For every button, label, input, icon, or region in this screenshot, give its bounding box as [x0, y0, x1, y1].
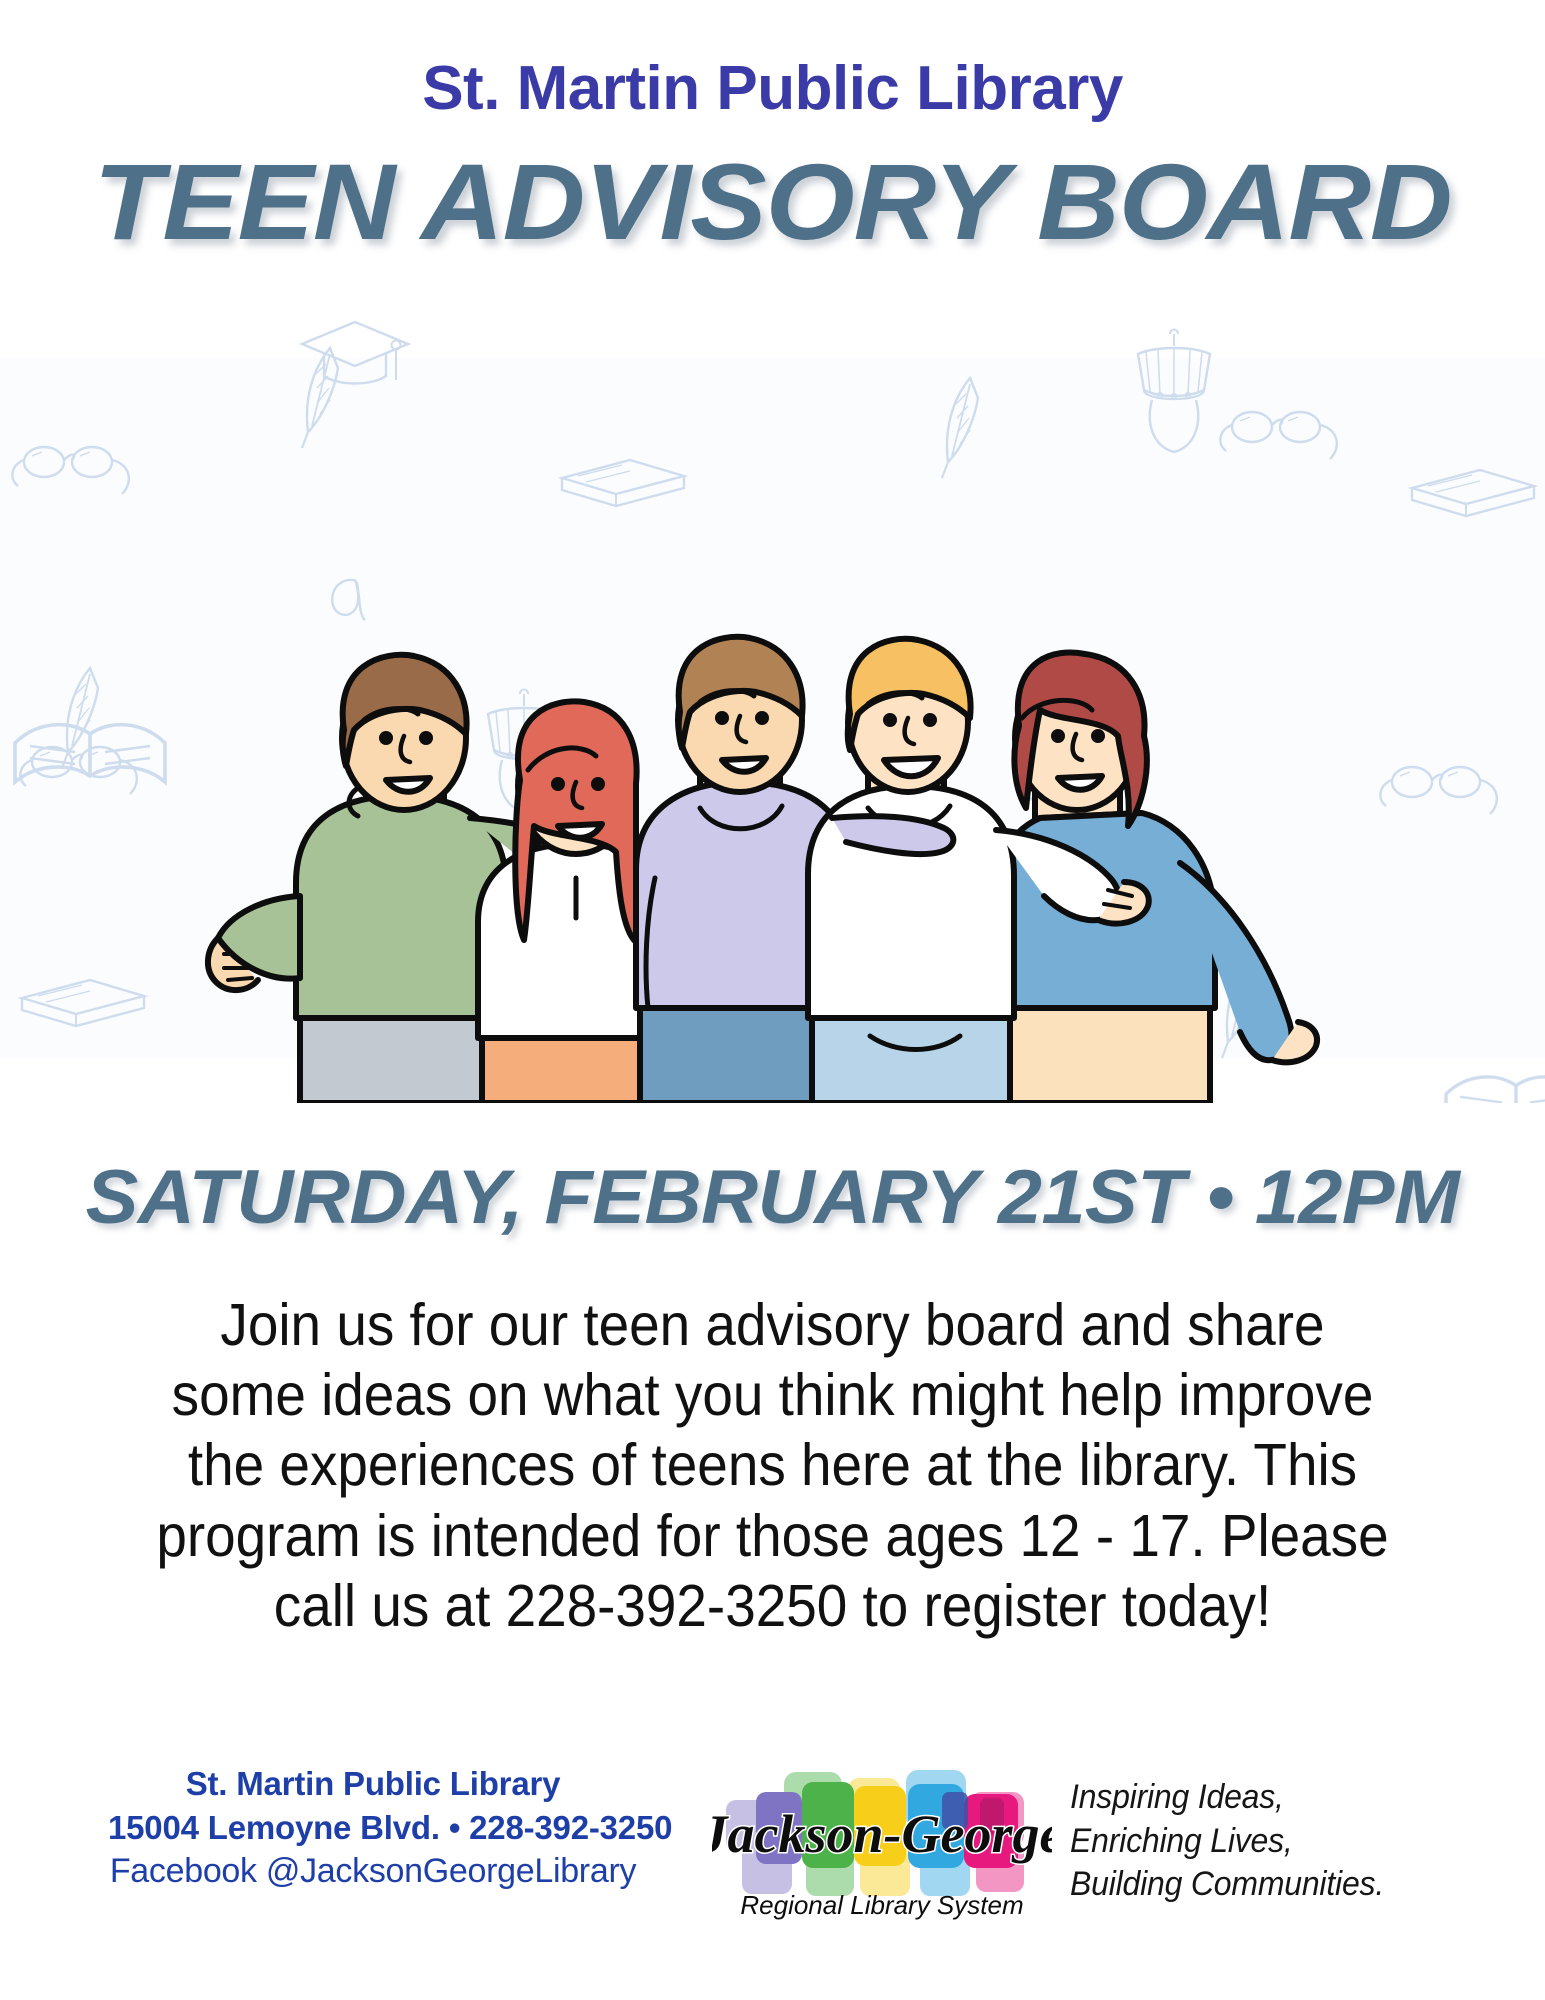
tagline-line-3: Building Communities.	[1070, 1863, 1384, 1907]
illustration-svg	[0, 318, 1545, 1103]
event-date: SATURDAY, FEBRUARY 21ST • 12PM	[0, 1160, 1545, 1236]
branch-address: 15004 Lemoyne Blvd. • 228-392-3250	[108, 1806, 638, 1850]
footer: St. Martin Public Library 15004 Lemoyne …	[0, 1748, 1545, 1978]
event-description: Join us for our teen advisory board and …	[152, 1290, 1394, 1641]
logo-script-name: Jackson-George	[712, 1804, 1052, 1864]
system-tagline: Inspiring Ideas, Enriching Lives, Buildi…	[1070, 1776, 1384, 1907]
logo-svg: Jackson-George Regional Library System	[712, 1748, 1052, 1938]
logo-subtitle: Regional Library System	[740, 1890, 1023, 1920]
tagline-line-2: Enriching Lives,	[1070, 1820, 1384, 1864]
tagline-line-1: Inspiring Ideas,	[1070, 1776, 1384, 1820]
poster-root: St. Martin Public Library TEEN ADVISORY …	[0, 0, 1545, 2000]
facebook-handle: Facebook @JacksonGeorgeLibrary	[108, 1849, 638, 1894]
branch-contact-block: St. Martin Public Library 15004 Lemoyne …	[108, 1762, 638, 1894]
branch-name: St. Martin Public Library	[108, 1762, 638, 1806]
jackson-george-logo: Jackson-George Regional Library System	[712, 1748, 1052, 1938]
teens-illustration	[0, 318, 1545, 1103]
event-title: TEEN ADVISORY BOARD	[0, 148, 1545, 256]
page-title: St. Martin Public Library	[0, 58, 1545, 120]
